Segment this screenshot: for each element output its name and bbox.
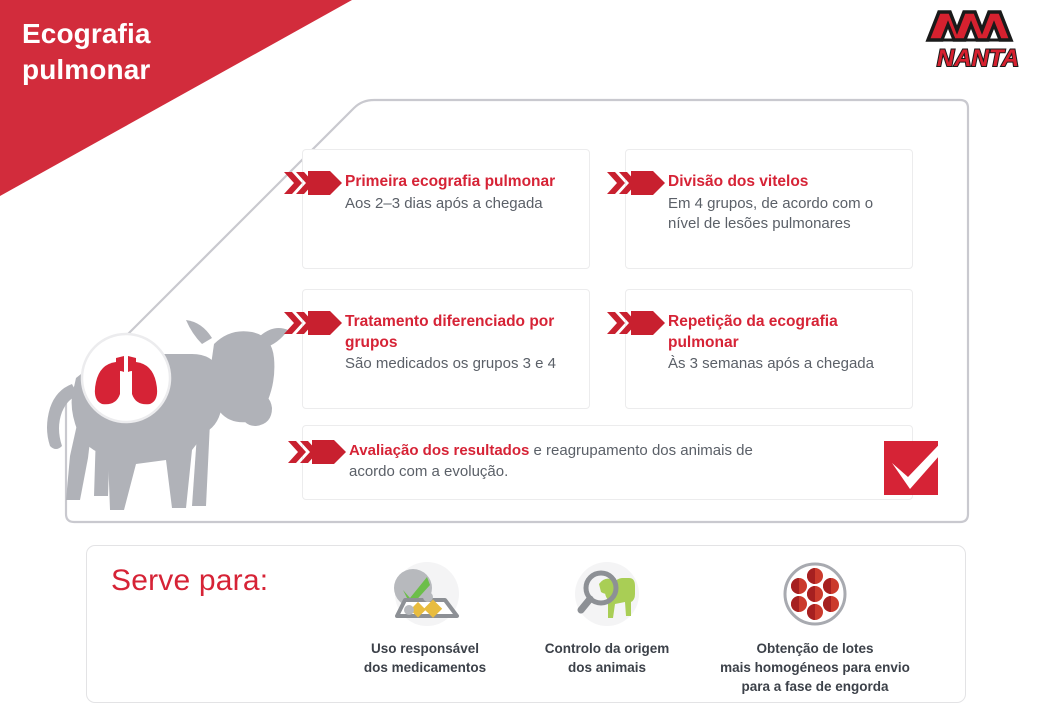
step-5-highlight: Avaliação dos resultados	[349, 442, 529, 459]
nanta-logo: NANTA	[924, 8, 1032, 70]
benefit-label-1: Uso responsável dos medicamentos	[325, 640, 525, 678]
benefit-item-2: Controlo da origem dos animais	[507, 560, 707, 678]
benefit-label-2: Controlo da origem dos animais	[507, 640, 707, 678]
step-5-text: Avaliação dos resultados e reagrupamento…	[349, 440, 782, 483]
benefits-heading: Serve para:	[111, 564, 268, 598]
step-subtitle-2: Em 4 grupos, de acordo com o nível de le…	[668, 194, 900, 234]
step-card-2[interactable]: 2 Divisão dos vitelos Em 4 grupos, de ac…	[625, 149, 913, 269]
step-title-2: Divisão dos vitelos	[668, 172, 900, 193]
homogeneous-lots-dots-icon	[773, 560, 857, 636]
page-title-line1: Ecografia	[22, 16, 282, 52]
step-card-5[interactable]: 5 Avaliação dos resultados e reagrupamen…	[302, 425, 913, 500]
step-card-4[interactable]: 4 Repetição da ecografia pulmonar Às 3 s…	[625, 289, 913, 409]
step-number-badge-3	[284, 310, 342, 336]
responsible-medication-tray-icon	[383, 560, 467, 636]
step-title-4: Repetição da ecografia pulmonar	[668, 312, 900, 353]
infographic-page: Ecografia pulmonar NANTA	[0, 0, 1050, 716]
page-title-line2: pulmonar	[22, 52, 282, 88]
benefit-3-line1: Obtenção de lotes	[687, 640, 943, 659]
benefit-label-3: Obtenção de lotes mais homogéneos para e…	[687, 640, 943, 697]
step-card-3[interactable]: 3 Tratamento diferenciado por grupos São…	[302, 289, 590, 409]
benefit-item-3: Obtenção de lotes mais homogéneos para e…	[687, 560, 943, 697]
red-checkmark-icon	[882, 425, 960, 497]
step-number-badge-2	[607, 170, 665, 196]
step-title-1: Primeira ecografia pulmonar	[345, 172, 577, 193]
page-title: Ecografia pulmonar	[22, 16, 282, 88]
step-number-badge-5	[288, 439, 346, 465]
benefit-2-line1: Controlo da origem	[507, 640, 707, 659]
step-number-badge-4	[607, 310, 665, 336]
nanta-zigzag-mark	[928, 12, 1011, 40]
step-subtitle-3: São medicados os grupos 3 e 4	[345, 354, 577, 374]
nanta-wordmark: NANTA	[937, 45, 1019, 70]
step-title-3: Tratamento diferenciado por grupos	[345, 312, 577, 353]
step-subtitle-1: Aos 2–3 dias após a chegada	[345, 194, 577, 214]
benefits-panel: Serve para: Uso responsável dos medicame…	[86, 545, 966, 703]
calf-silhouette-icon	[16, 300, 296, 535]
benefit-3-line2: mais homogéneos para envio	[687, 659, 943, 678]
lungs-icon	[82, 334, 170, 422]
benefit-item-1: Uso responsável dos medicamentos	[325, 560, 525, 678]
benefit-1-line2: dos medicamentos	[325, 659, 525, 678]
step-subtitle-4: Às 3 semanas após a chegada	[668, 354, 900, 374]
benefit-2-line2: dos animais	[507, 659, 707, 678]
magnifier-calf-origin-icon	[565, 560, 649, 636]
benefit-3-line3: para a fase de engorda	[687, 678, 943, 697]
benefit-1-line1: Uso responsável	[325, 640, 525, 659]
